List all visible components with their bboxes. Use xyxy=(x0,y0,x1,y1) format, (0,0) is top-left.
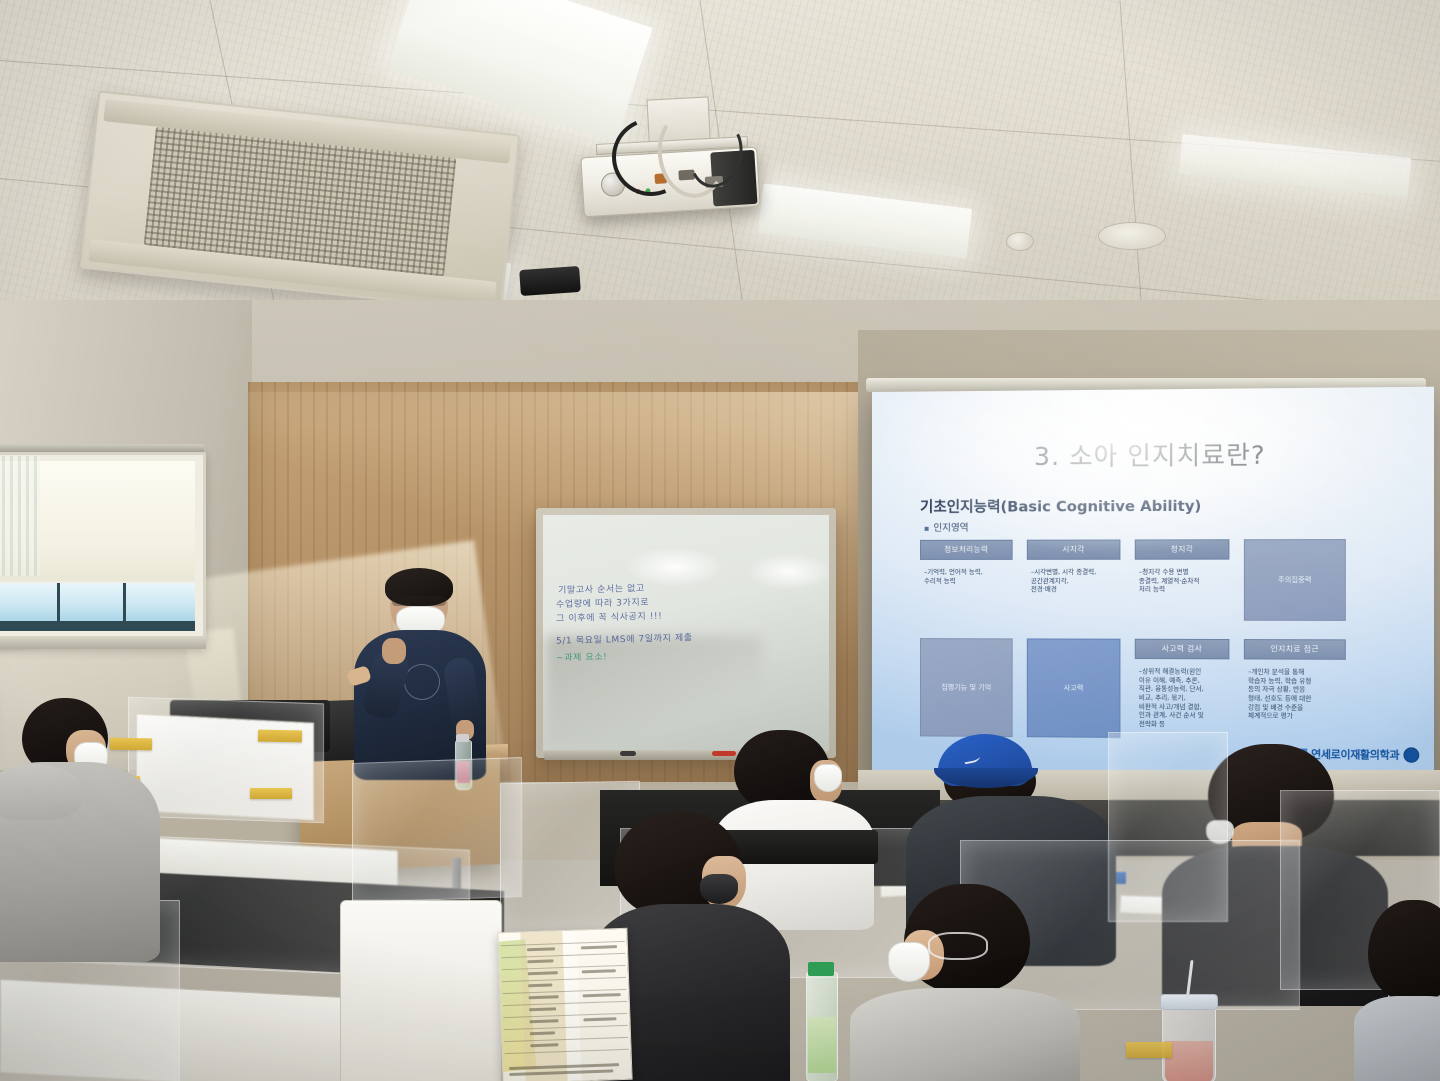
projection-screen: 3. 소아 인지치료란? 기초인지능력(Basic Cognitive Abil… xyxy=(872,387,1434,776)
handout-column xyxy=(520,931,567,1081)
student-front-left xyxy=(0,694,150,994)
whiteboard-handwriting-line: ~과제 요소! xyxy=(556,649,608,663)
slide: 3. 소아 인지치료란? 기초인지능력(Basic Cognitive Abil… xyxy=(872,387,1434,776)
slide-box-info-processing-desc: 기억력, 언어적 능력, 수리적 능력 xyxy=(924,568,1017,585)
slide-box-executive: 집행기능 및 기억 xyxy=(920,638,1013,737)
student-face-mask xyxy=(888,942,930,982)
student-hood xyxy=(0,764,82,820)
slide-box-attention: 주의집중력 xyxy=(1244,539,1346,621)
whiteboard: 기말고사 순서는 없고 수업량에 따라 3가지로 그 이후에 꼭 식사공지 !!… xyxy=(536,508,836,758)
slide-subtitle: 기초인지능력(Basic Cognitive Ability) xyxy=(920,495,1201,517)
bottle-label xyxy=(808,1017,836,1073)
student-far-right xyxy=(1368,900,1440,1080)
student-face-mask xyxy=(814,764,842,792)
slide-box-thinking-task-desc: 상위적 해결능력(원인 이유 이해, 예측, 추론, 직관, 융통성능력, 단서… xyxy=(1139,667,1236,729)
slide-box-visual-perception-desc: 시각변별, 시각 종결력, 공간관계지각, 전경·배경 xyxy=(1031,568,1127,594)
tumbler-with-straw xyxy=(1162,1000,1216,1081)
slide-box-reasoning: 사고력 xyxy=(1027,638,1121,737)
slide-box-thinking-task-header: 사고력 검사 xyxy=(1135,639,1230,660)
printed-schedule-handout xyxy=(497,928,632,1081)
whiteboard-handwriting-line: 기말고사 순서는 없고 xyxy=(558,581,645,596)
student-hair xyxy=(1368,900,1440,1000)
slide-box-visual-perception-header: 시지각 xyxy=(1027,539,1121,559)
acrylic-desk-divider xyxy=(352,757,522,903)
logo-seal-icon xyxy=(1403,747,1419,763)
student-top xyxy=(850,988,1080,1081)
slide-box-assessment-header: 인지치료 접근 xyxy=(1244,639,1346,660)
presenter-glasses xyxy=(392,596,446,606)
slide-box-info-processing-header: 정보처리능력 xyxy=(920,540,1013,560)
ceiling-dome-fixture xyxy=(1098,222,1166,250)
yellow-tape xyxy=(1126,1042,1172,1058)
window-mullion xyxy=(0,621,195,631)
slide-bullet: 인지영역 xyxy=(924,520,969,534)
bottle-cap xyxy=(808,962,834,976)
hair-tie xyxy=(928,932,988,960)
presenter-shirt-graphic xyxy=(404,664,440,700)
chair-back xyxy=(340,900,502,1081)
student-front-right xyxy=(880,884,1080,1081)
whiteboard-handwriting-line: 수업량에 따라 3가지로 xyxy=(556,595,649,610)
green-tea-bottle xyxy=(806,972,838,1081)
slide-box-assessment-desc: 개인차 분석을 통해 학습자 능력, 학습 유형 등의 자극 상황, 반응 형태… xyxy=(1248,668,1350,722)
presenter-left-hand xyxy=(382,638,406,664)
black-marker[interactable] xyxy=(620,751,636,756)
slide-title: 3. 소아 인지치료란? xyxy=(872,434,1434,474)
yellow-tape xyxy=(258,730,302,743)
student-face-mask xyxy=(700,874,738,904)
curtain-fold xyxy=(0,456,40,576)
window-sill xyxy=(0,636,206,649)
slide-box-auditory-perception-desc: 청지각 수용 변별 종결력, 계열적·순차적 처리 능력 xyxy=(1139,568,1238,594)
whiteboard-handwriting-line: 그 이후에 꼭 식사공지 !!! xyxy=(556,609,663,625)
bottle-cap xyxy=(456,734,469,742)
smoke-detector xyxy=(1006,232,1034,251)
student-top xyxy=(1354,996,1440,1081)
tumbler-liquid xyxy=(1165,1041,1213,1081)
ceiling-camera-mount xyxy=(519,266,581,296)
slide-box-auditory-perception-header: 청지각 xyxy=(1135,539,1230,559)
acrylic-desk-divider xyxy=(128,697,324,824)
yellow-tape xyxy=(250,788,292,799)
lecture-room-photo: 기말고사 순서는 없고 수업량에 따라 3가지로 그 이후에 꼭 식사공지 !!… xyxy=(0,0,1440,1081)
